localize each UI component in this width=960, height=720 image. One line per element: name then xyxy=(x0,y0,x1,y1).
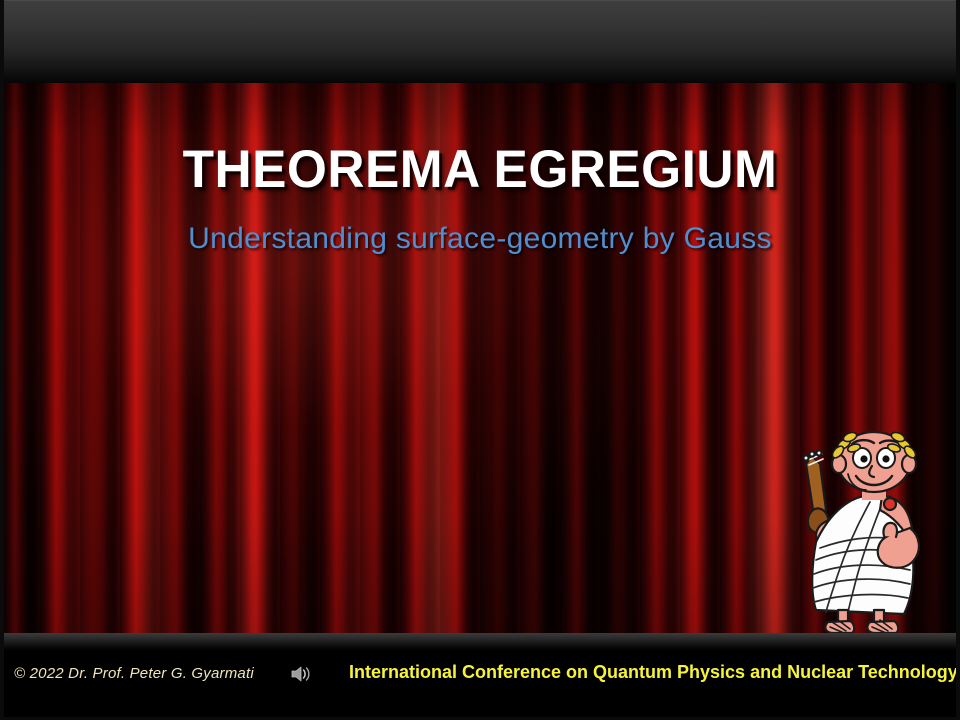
presentation-chrome-bar[interactable] xyxy=(0,0,960,83)
slide-subtitle: Understanding surface-geometry by Gauss xyxy=(0,222,960,256)
slide-frame-right-edge xyxy=(956,0,960,720)
chrome-bar-hairline xyxy=(0,0,960,1)
slide-frame-left-edge xyxy=(0,0,4,720)
presentation-slide: THEOREMA EGREGIUM Understanding surface-… xyxy=(0,0,960,720)
copyright-text: © 2022 Dr. Prof. Peter G. Gyarmati xyxy=(14,665,254,682)
roman-caesar-cartoon-icon xyxy=(786,424,960,636)
conference-title-text: International Conference on Quantum Phys… xyxy=(349,662,958,683)
curtain-footer-fade xyxy=(0,633,960,650)
slide-title: THEOREMA EGREGIUM xyxy=(14,139,945,200)
slide-footer xyxy=(0,650,960,720)
speaker-sound-icon[interactable] xyxy=(290,664,314,684)
lyre-icon xyxy=(803,450,828,533)
